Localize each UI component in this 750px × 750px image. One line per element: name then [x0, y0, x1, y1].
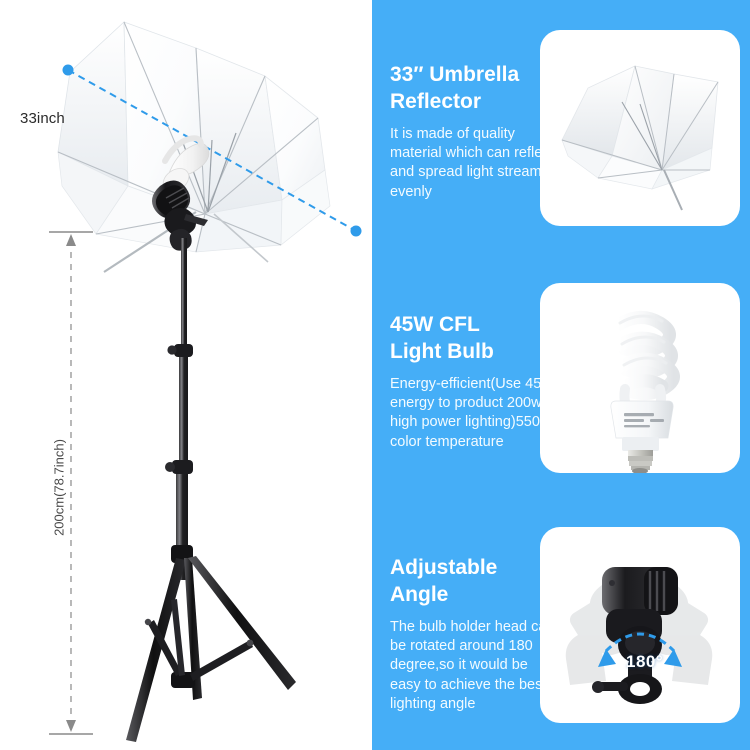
stand-height-label: 200cm(78.7inch): [52, 413, 67, 563]
rotation-degree-badge: 180°: [626, 652, 663, 672]
feature-image-card: [540, 30, 740, 226]
tripod-legs: [126, 545, 296, 742]
feature-title-line: Light Bulb: [390, 339, 562, 366]
light-stand-pole: [165, 238, 193, 580]
stand-lock-knob-upper: [167, 344, 193, 357]
product-infographic: 33inch 200cm(78.7inch) 33″ Umbrella Refl…: [0, 0, 750, 750]
feature-title: Adjustable Angle: [390, 555, 562, 609]
feature-image-card: 180°: [540, 527, 740, 723]
feature-text-block: 33″ Umbrella Reflector It is made of qua…: [390, 62, 562, 202]
umbrella-reflector-photo: [540, 30, 740, 226]
feature-adjustable-angle: Adjustable Angle The bulb holder head ca…: [372, 500, 750, 750]
feature-description: The bulb holder head can be rotated arou…: [390, 618, 562, 714]
feature-umbrella-reflector: 33″ Umbrella Reflector It is made of qua…: [372, 0, 750, 250]
cfl-spiral-bulb-photo: [540, 283, 740, 473]
feature-title-line: Reflector: [390, 89, 562, 116]
bulb-holder-rotation-photo: [540, 527, 740, 723]
feature-title-line: Angle: [390, 582, 562, 609]
feature-description: Energy-efficient(Use 45w energy to produ…: [390, 375, 562, 452]
features-panel: 33″ Umbrella Reflector It is made of qua…: [372, 0, 750, 750]
stand-lock-knob-lower: [165, 460, 193, 474]
feature-cfl-light-bulb: 45W CFL Light Bulb Energy-efficient(Use …: [372, 250, 750, 500]
feature-text-block: Adjustable Angle The bulb holder head ca…: [390, 555, 562, 714]
feature-text-block: 45W CFL Light Bulb Energy-efficient(Use …: [390, 312, 562, 452]
feature-image-card: [540, 283, 740, 473]
umbrella-size-label: 33inch: [20, 110, 65, 127]
feature-title-line: 33″ Umbrella: [390, 62, 562, 89]
feature-title-line: 45W CFL: [390, 312, 562, 339]
feature-description: It is made of quality material which can…: [390, 125, 562, 202]
feature-title-line: Adjustable: [390, 555, 562, 582]
feature-title: 45W CFL Light Bulb: [390, 312, 562, 366]
product-photo-panel: 33inch 200cm(78.7inch): [0, 0, 372, 750]
feature-title: 33″ Umbrella Reflector: [390, 62, 562, 116]
